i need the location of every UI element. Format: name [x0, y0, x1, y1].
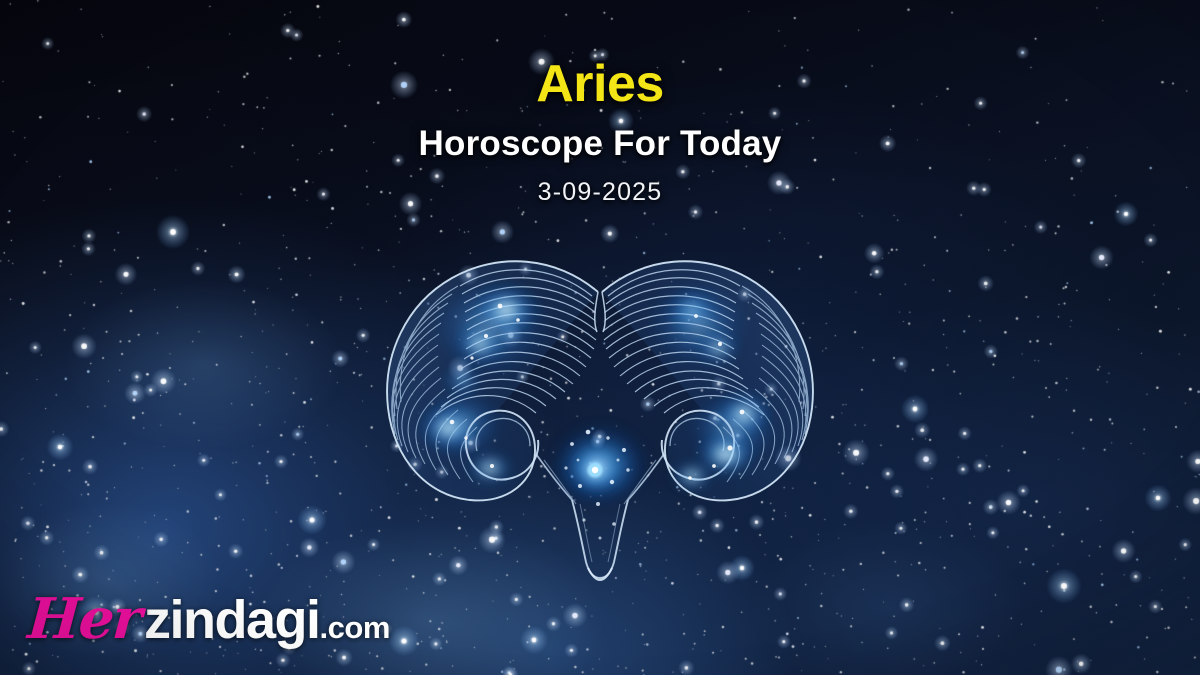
page-title: Aries: [0, 58, 1200, 110]
horoscope-banner: Aries Horoscope For Today 3-09-2025: [0, 0, 1200, 675]
heading-block: Aries Horoscope For Today 3-09-2025: [0, 58, 1200, 207]
page-subtitle: Horoscope For Today: [0, 124, 1200, 164]
ram-horn-center-notch: [595, 292, 605, 334]
herzindagi-logo[interactable]: Her zindagi .com: [28, 591, 390, 647]
horoscope-date: 3-09-2025: [0, 178, 1200, 207]
aries-ram-icon: [340, 232, 860, 577]
logo-zindagi-text: zindagi: [144, 593, 320, 647]
logo-com-text: .com: [320, 612, 390, 643]
logo-her-text: Her: [26, 591, 142, 647]
